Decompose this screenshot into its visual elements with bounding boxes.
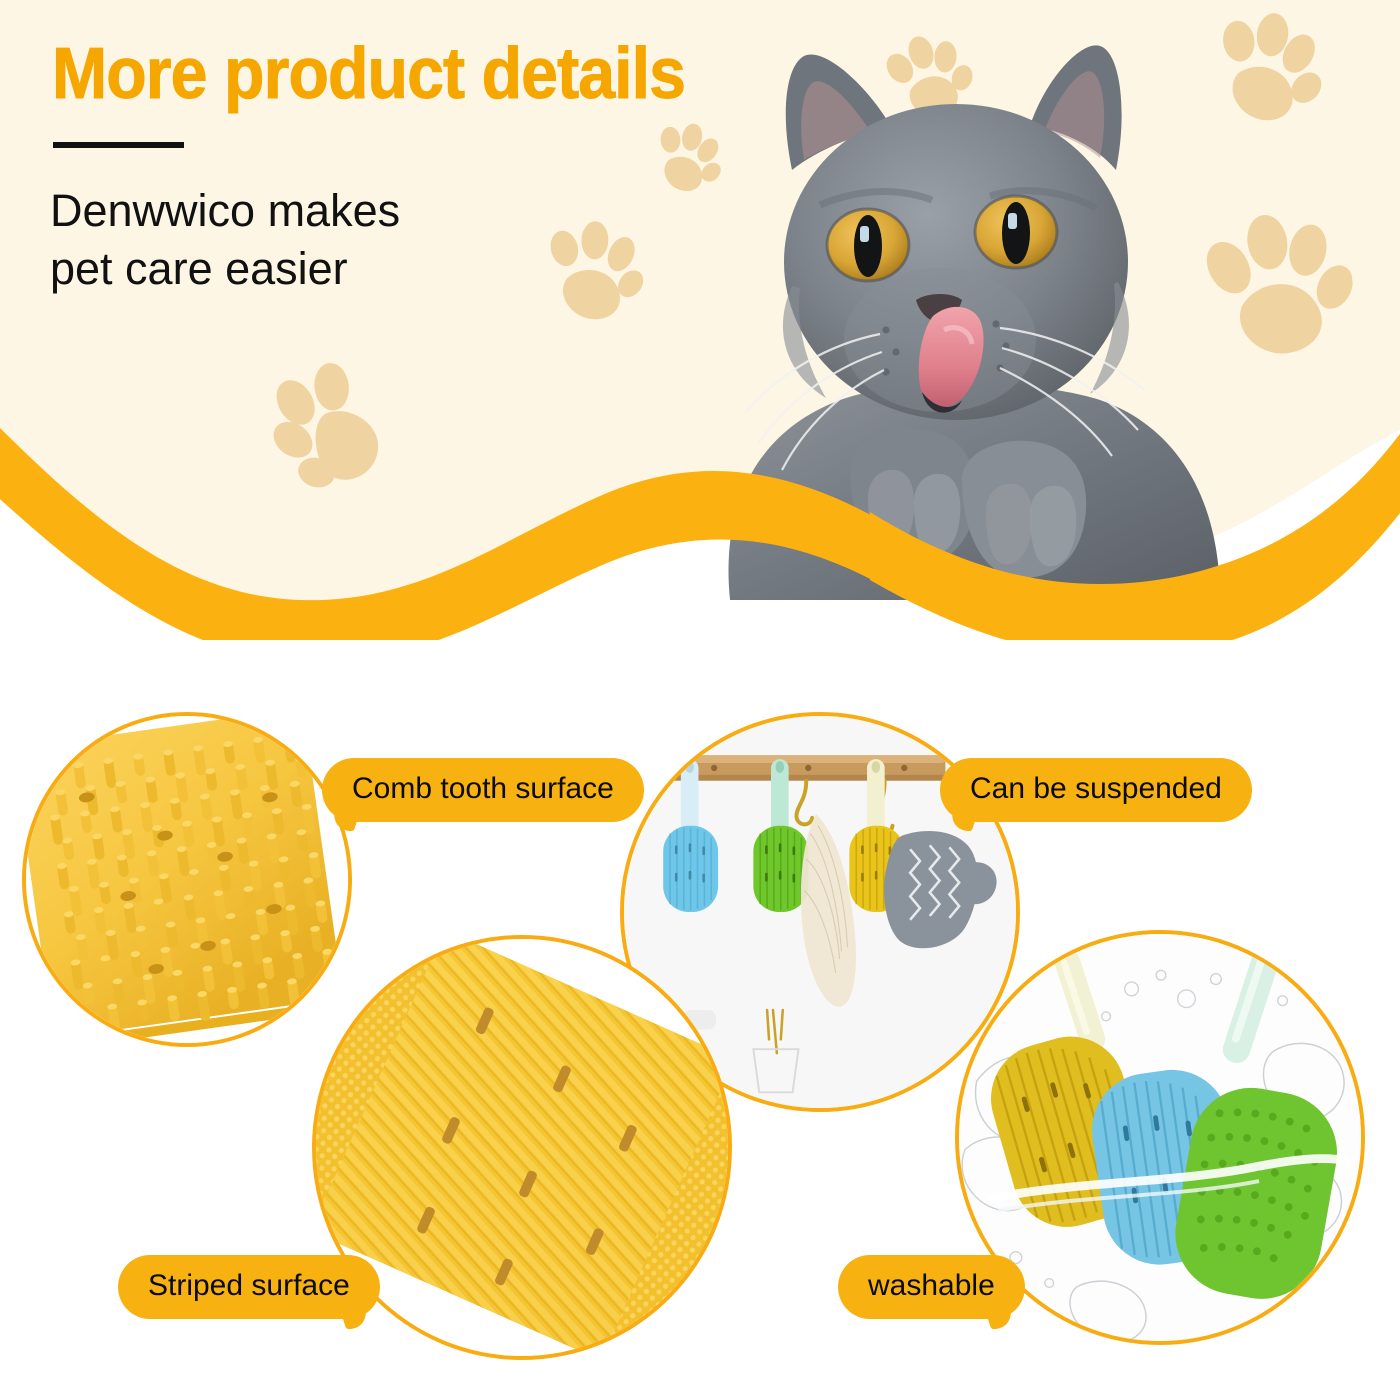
- cat-photo: [700, 0, 1260, 600]
- product-gallery: Comb tooth surface Can be suspended Stri…: [0, 640, 1400, 1400]
- badge-comb-tooth-surface[interactable]: Comb tooth surface: [322, 758, 644, 822]
- badge-can-be-suspended[interactable]: Can be suspended: [940, 758, 1252, 822]
- badge-washable[interactable]: washable: [838, 1255, 1025, 1319]
- hero-subtitle: Denwwico makes pet care easier: [50, 182, 400, 297]
- title-underline-rule: [53, 142, 184, 148]
- page-title: More product details: [52, 38, 685, 110]
- badge-striped-surface[interactable]: Striped surface: [118, 1255, 380, 1319]
- hero-section: More product details Denwwico makes pet …: [0, 0, 1400, 640]
- gallery-circle-comb-tooth[interactable]: [22, 712, 352, 1047]
- product-detail-page: More product details Denwwico makes pet …: [0, 0, 1400, 1400]
- comb-tooth-bristles: [26, 716, 348, 1043]
